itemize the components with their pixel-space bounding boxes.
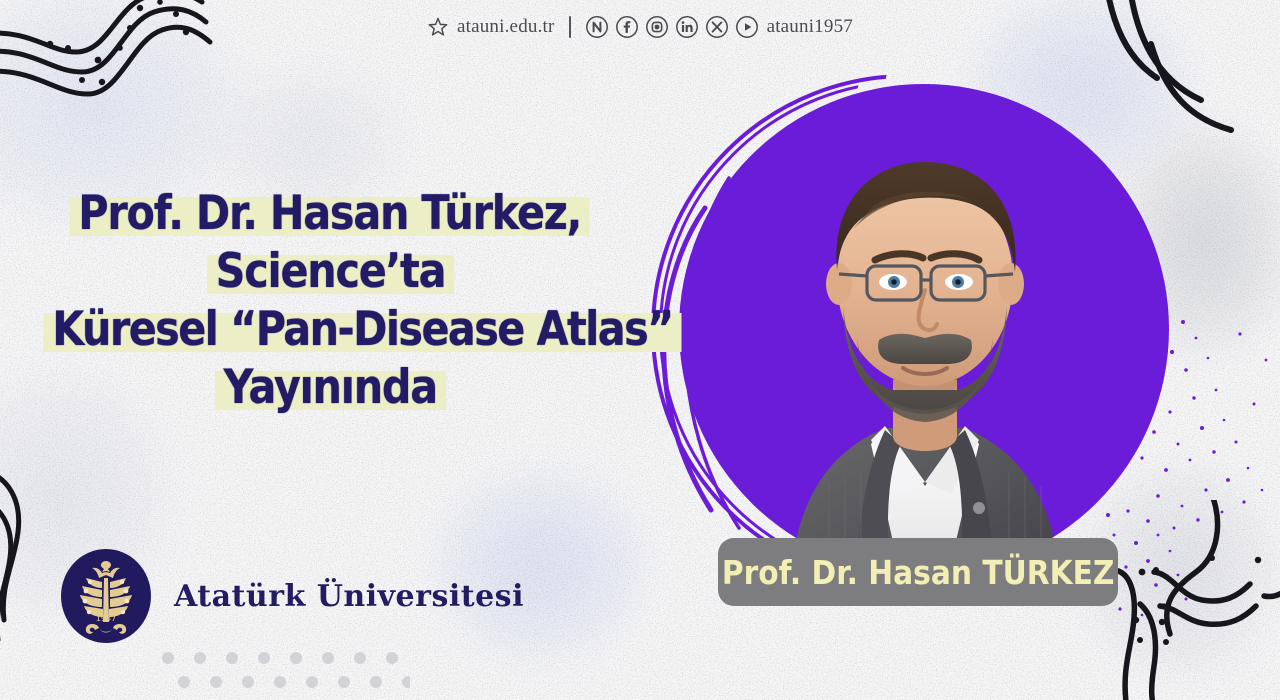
university-name: Atatürk Üniversitesi xyxy=(174,579,524,614)
headline-line-4: Yayınında xyxy=(0,362,660,416)
x-twitter-icon[interactable] xyxy=(705,15,729,39)
n-portal-icon[interactable] xyxy=(585,15,609,39)
social-icon-row xyxy=(585,15,759,39)
website-url[interactable]: atauni.edu.tr xyxy=(457,16,555,38)
instagram-icon[interactable] xyxy=(645,15,669,39)
headline-line-3: Küresel “Pan-Disease Atlas” xyxy=(0,304,660,358)
poster-canvas: atauni.edu.tr xyxy=(0,0,1280,700)
nameplate-text: Prof. Dr. Hasan TÜRKEZ xyxy=(722,553,1115,592)
dot-grid-decoration xyxy=(160,648,410,694)
svg-text:1957: 1957 xyxy=(96,614,116,623)
headline-block: Prof. Dr. Hasan Türkez, Science’ta Küres… xyxy=(0,188,660,420)
nameplate-badge: Prof. Dr. Hasan TÜRKEZ xyxy=(718,538,1118,606)
topbar-divider xyxy=(569,16,571,38)
brand-lockup: 1957 Atatürk Üniversitesi xyxy=(58,548,524,644)
headline-line-1: Prof. Dr. Hasan Türkez, xyxy=(0,188,660,242)
top-bar: atauni.edu.tr xyxy=(0,0,1280,54)
university-seal-icon: 1957 xyxy=(58,548,154,644)
portrait-area xyxy=(645,58,1205,618)
star-icon xyxy=(427,16,449,38)
social-handle[interactable]: atauni1957 xyxy=(767,16,853,38)
portrait-photo xyxy=(679,84,1169,604)
linkedin-icon[interactable] xyxy=(675,15,699,39)
facebook-icon[interactable] xyxy=(615,15,639,39)
headline-line-2: Science’ta xyxy=(0,246,660,300)
youtube-icon[interactable] xyxy=(735,15,759,39)
